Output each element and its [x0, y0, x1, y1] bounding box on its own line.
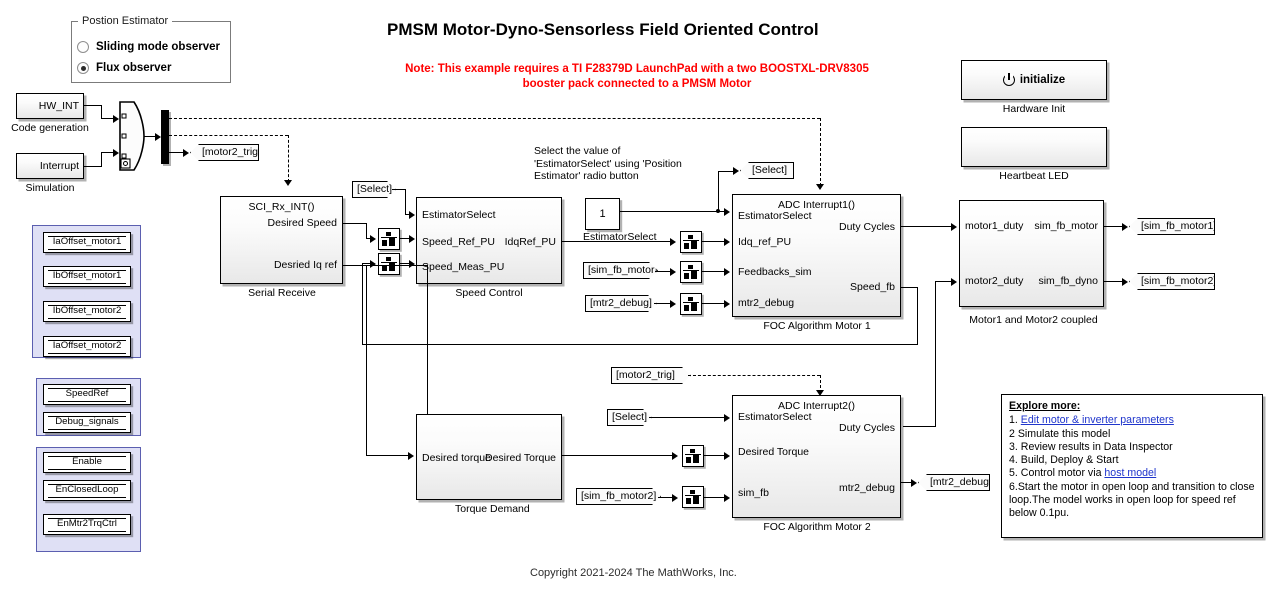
wire-duty1-h	[901, 226, 954, 227]
foc1-in-feedbacks-sim: Feedbacks_sim	[738, 267, 812, 278]
wire-speedfb-v-right	[917, 287, 918, 345]
data-type-conversion-desired-torque[interactable]	[682, 445, 704, 467]
page-title: PMSM Motor-Dyno-Sensorless Field Oriente…	[387, 20, 819, 40]
function-call-split-bar	[161, 110, 169, 164]
explore-item-5[interactable]: 5. Control motor via host model	[1009, 467, 1255, 480]
block-ia-offset-motor2[interactable]: IaOffset_motor2	[43, 336, 131, 357]
radio-flux-observer[interactable]: Flux observer	[77, 62, 171, 74]
data-type-conversion-idq-ref[interactable]	[680, 231, 702, 253]
arrow-mtr2dbg-in	[724, 300, 730, 308]
block-ib-offset-motor1[interactable]: IbOffset_motor1	[43, 266, 131, 287]
block-enable[interactable]: Enable	[43, 452, 131, 473]
tag-motor2-trig-from[interactable]: [motor2_trig]	[611, 367, 691, 384]
wire-dspeed-h1	[343, 223, 367, 224]
data-type-conversion-feedbacks-sim[interactable]	[680, 261, 702, 283]
trigger-line-serial-v	[288, 135, 289, 182]
arrow-dtc-idq	[670, 238, 676, 246]
position-estimator-legend: Postion Estimator	[78, 15, 172, 27]
arrow-feedbacks-in	[724, 268, 730, 276]
simulink-model-canvas: PMSM Motor-Dyno-Sensorless Field Oriente…	[0, 0, 1275, 596]
foc2-in-sim-fb: sim_fb	[738, 488, 769, 499]
block-foc-algorithm-motor2[interactable]: ADC Interrupt2() EstimatorSelect Desired…	[732, 395, 901, 518]
block-motors-coupled[interactable]: motor1_duty motor2_duty sim_fb_motor sim…	[959, 200, 1104, 307]
foc2-in-estimator-select: EstimatorSelect	[738, 412, 812, 423]
caption-hardware-init: Hardware Init	[988, 103, 1080, 115]
block-en-mtr2-trq-ctrl[interactable]: EnMtr2TrqCtrl	[43, 514, 131, 535]
wire-simfb2-h	[658, 497, 673, 498]
tag-select-from-speed[interactable]: [Select]	[352, 181, 396, 198]
caption-simulation: Simulation	[8, 182, 92, 194]
foc1-in-estimator-select: EstimatorSelect	[738, 211, 812, 222]
foc1-out-duty-cycles: Duty Cycles	[839, 222, 895, 233]
torque-out-desired-torque: Desired Torque	[485, 453, 556, 464]
foc2-in-desired-torque: Desired Torque	[738, 447, 809, 458]
foc1-out-speed-fb: Speed_fb	[850, 282, 895, 293]
caption-foc-motor2: FOC Algorithm Motor 2	[757, 521, 877, 533]
explore-item-6: 6.Start the motor in open loop and trans…	[1009, 481, 1255, 521]
arrow-const-to-foc1	[724, 208, 730, 216]
arrow-dtc-simfb2	[672, 494, 678, 502]
explore-item-4-num: 4.	[1009, 454, 1018, 466]
data-type-conversion-speed-ref[interactable]	[378, 228, 400, 250]
wire-duty2-h1	[903, 426, 936, 427]
block-en-closed-loop[interactable]: EnClosedLoop	[43, 480, 131, 501]
arrow-foc1-trigger	[816, 184, 824, 190]
wire-torque-in-v	[366, 265, 367, 456]
foc2-out-duty-cycles: Duty Cycles	[839, 423, 895, 434]
radio-label-flux-observer: Flux observer	[96, 62, 171, 74]
link-host-model[interactable]: host model	[1104, 467, 1156, 479]
wire-iqref-h	[343, 265, 428, 266]
wire-select-speed-h	[392, 189, 406, 190]
block-serial-receive[interactable]: SCI_Rx_INT() Desired Speed Desried Iq re…	[220, 196, 343, 284]
arrow-dtc-dtorque	[672, 452, 678, 460]
wire-speedfb-v-left	[362, 263, 363, 345]
radio-indicator-flux-observer	[77, 62, 89, 74]
caption-heartbeat-led: Heartbeat LED	[988, 170, 1080, 182]
arrow-motor1-duty	[951, 223, 957, 231]
block-hardware-init[interactable]: initialize	[961, 60, 1107, 100]
arrow-speedref-in	[409, 235, 415, 243]
coupled-out-sim-fb-motor: sim_fb_motor	[1034, 221, 1098, 232]
explore-item-6-text: Start the motor in open loop and transit…	[1009, 481, 1255, 520]
arrow-serial-trigger	[284, 180, 292, 186]
explore-item-5-text: Control motor via	[1021, 467, 1105, 479]
tag-sim-fb-motor1-goto[interactable]: [sim_fb_motor1]	[1129, 218, 1215, 235]
block-debug-signals[interactable]: Debug_signals	[43, 412, 131, 433]
arrow-dtc-speedref	[370, 235, 376, 243]
explore-item-4-text: Build, Deploy & Start	[1021, 454, 1119, 466]
explore-item-3: 3. Review results in Data Inspector	[1009, 441, 1255, 454]
caption-code-generation: Code generation	[7, 122, 93, 134]
data-type-conversion-speed-meas[interactable]	[378, 253, 400, 275]
arrow-simfbmotor1	[1122, 223, 1128, 231]
torque-in-desired-torque: Desired torque	[422, 453, 491, 464]
tag-sim-fb-motor2-goto[interactable]: [sim_fb_motor2]	[1129, 273, 1215, 290]
variant-source-block[interactable]	[118, 100, 146, 172]
block-ia-offset-motor1[interactable]: IaOffset_motor1	[43, 232, 131, 253]
wire-dtc-dtorque-out	[704, 455, 724, 456]
foc1-in-mtr2-debug: mtr2_debug	[738, 298, 794, 309]
arrow-select-goto	[733, 167, 739, 175]
block-speed-ref[interactable]: SpeedRef	[43, 384, 131, 405]
speedctl-in-speed-ref-pu: Speed_Ref_PU	[422, 237, 495, 248]
wire-const-up-v	[718, 171, 719, 211]
explore-item-1[interactable]: 1. Edit motor & inverter parameters	[1009, 414, 1255, 427]
radio-indicator-sliding-mode	[77, 41, 89, 53]
trigger-line-branch	[169, 135, 288, 136]
hardware-init-label: initialize	[1020, 74, 1065, 86]
wire-select-foc2-h	[649, 417, 725, 418]
copyright-text: Copyright 2021-2024 The MathWorks, Inc.	[530, 567, 737, 579]
explore-item-4: 4. Build, Deploy & Start	[1009, 454, 1255, 467]
wire-duty2-v	[935, 281, 936, 427]
wire-hwint-v	[101, 105, 102, 119]
requirements-note: Note: This example requires a TI F28379D…	[317, 62, 957, 92]
coupled-in-motor1-duty: motor1_duty	[965, 221, 1023, 232]
wire-dtc-speedmeas-out	[400, 263, 409, 264]
explore-item-2-text: Simulate this model	[1018, 428, 1110, 440]
wire-dtc-simfb2-out	[704, 497, 724, 498]
arrow-torque-in	[408, 452, 414, 460]
wire-idqref-h	[562, 241, 674, 242]
wire-dtc-speedref-out	[400, 238, 409, 239]
arrow-simfb2-in	[724, 494, 730, 502]
tag-motor2-trig-goto[interactable]: [motor2_trig]	[190, 144, 259, 161]
arrow-idq-in	[724, 238, 730, 246]
data-type-conversion-sim-fb[interactable]	[682, 486, 704, 508]
tag-mtr2-debug-from[interactable]: [mtr2_debug]	[585, 295, 657, 312]
serial-receive-header: SCI_Rx_INT()	[221, 202, 342, 213]
tag-sim-fb-motor2-from[interactable]: [sim_fb_motor2]	[576, 488, 661, 505]
arrow-select-speed	[409, 211, 415, 219]
block-speed-control[interactable]: EstimatorSelect Speed_Ref_PU Speed_Meas_…	[416, 197, 562, 284]
power-icon	[1003, 74, 1015, 86]
arrow-dtc-simfb	[670, 268, 676, 276]
explore-more-header: Explore more:	[1009, 400, 1255, 413]
wire-int-h1	[84, 166, 102, 167]
block-interrupt[interactable]: Interrupt	[16, 153, 84, 179]
tag-sim-fb-motor-from[interactable]: [sim_fb_motor]	[583, 262, 658, 279]
explore-item-2-num: 2	[1009, 428, 1015, 440]
hw-int-label: HW_INT	[39, 101, 79, 112]
interrupt-label: Interrupt	[40, 161, 79, 172]
wire-select-speed-v	[405, 189, 406, 215]
wire-dtorque-h	[562, 455, 676, 456]
trigger-line-foc2-h	[688, 375, 820, 376]
trigger-line-foc1-v	[820, 118, 821, 186]
wire-int-v	[101, 152, 102, 167]
serial-out-desired-speed: Desired Speed	[268, 218, 337, 229]
speedctl-in-speed-meas-pu: Speed_Meas_PU	[422, 262, 504, 273]
coupled-out-sim-fb-dyno: sim_fb_dyno	[1038, 276, 1098, 287]
explore-item-6-num: 6.	[1009, 481, 1018, 493]
block-torque-demand[interactable]: Desired torque Desired Torque	[416, 414, 562, 500]
explore-item-1-num: 1.	[1009, 414, 1018, 426]
explore-more-panel: Explore more: 1. Edit motor & inverter p…	[1001, 394, 1263, 538]
caption-torque-demand: Torque Demand	[455, 503, 523, 515]
caption-motors-coupled: Motor1 and Motor2 coupled	[961, 314, 1106, 326]
explore-item-2: 2 Simulate this model	[1009, 428, 1255, 441]
speedctl-out-idqref-pu: IdqRef_PU	[505, 237, 556, 248]
caption-foc-motor1: FOC Algorithm Motor 1	[757, 320, 877, 332]
explore-item-5-num: 5.	[1009, 467, 1018, 479]
block-estimator-select-constant[interactable]: 1	[585, 198, 620, 230]
wire-speedfb-h-from-foc1	[901, 287, 918, 288]
caption-speed-control: Speed Control	[452, 287, 526, 299]
wire-speedfb-h-bottom	[362, 344, 918, 345]
arrow-motor2-duty	[951, 278, 957, 286]
serial-out-desired-iq-ref: Desried Iq ref	[274, 260, 337, 271]
foc1-in-idq-ref-pu: Idq_ref_PU	[738, 237, 791, 248]
caption-serial-receive: Serial Receive	[240, 287, 324, 299]
foc2-out-mtr2-debug: mtr2_debug	[839, 483, 895, 494]
tag-select-from-foc2[interactable]: [Select]	[607, 409, 652, 426]
trigger-line-foc1	[169, 118, 820, 119]
link-edit-motor-inverter-parameters[interactable]: Edit motor & inverter parameters	[1021, 414, 1174, 426]
arrow-select-foc2	[724, 414, 730, 422]
arrow-dtorque-in	[724, 452, 730, 460]
tag-mtr2-debug-goto[interactable]: [mtr2_debug]	[918, 474, 990, 491]
wire-mtr2dbg-h	[654, 303, 671, 304]
explore-item-3-num: 3.	[1009, 441, 1018, 453]
wire-const-h	[620, 211, 725, 212]
annotation-estimator-hint: Select the value of 'EstimatorSelect' us…	[534, 145, 734, 183]
wire-dtc-mtr2dbg-out	[702, 303, 724, 304]
wire-simfb-h	[655, 271, 671, 272]
block-heartbeat-led[interactable]	[961, 127, 1107, 167]
arrow-dtc-speedmeas	[370, 260, 376, 268]
speedctl-in-estimator-select: EstimatorSelect	[422, 210, 496, 221]
wire-hwint-h1	[84, 105, 102, 106]
block-hw-int[interactable]: HW_INT	[16, 93, 84, 119]
tag-select-goto[interactable]: [Select]	[740, 162, 794, 179]
arrow-simfbmotor2	[1122, 278, 1128, 286]
arrow-speedmeas-in	[409, 260, 415, 268]
data-type-conversion-mtr2-debug[interactable]	[680, 293, 702, 315]
arrow-motor2trig	[183, 149, 189, 157]
wire-torque-in-h	[366, 455, 410, 456]
radio-label-sliding-mode: Sliding mode observer	[96, 41, 220, 53]
wire-dtc-idq-out	[702, 241, 724, 242]
block-ib-offset-motor2[interactable]: IbOffset_motor2	[43, 301, 131, 322]
arrow-dtc-mtr2dbg	[670, 300, 676, 308]
wire-dtc-simfb-out	[702, 271, 724, 272]
coupled-in-motor2-duty: motor2_duty	[965, 276, 1023, 287]
arrow-mtr2dbg-goto	[911, 479, 917, 487]
explore-item-3-text: Review results in Data Inspector	[1021, 441, 1173, 453]
radio-sliding-mode-observer[interactable]: Sliding mode observer	[77, 41, 220, 53]
block-foc-algorithm-motor1[interactable]: ADC Interrupt1() EstimatorSelect Idq_ref…	[732, 194, 901, 317]
wire-dspeed-v	[366, 223, 367, 239]
